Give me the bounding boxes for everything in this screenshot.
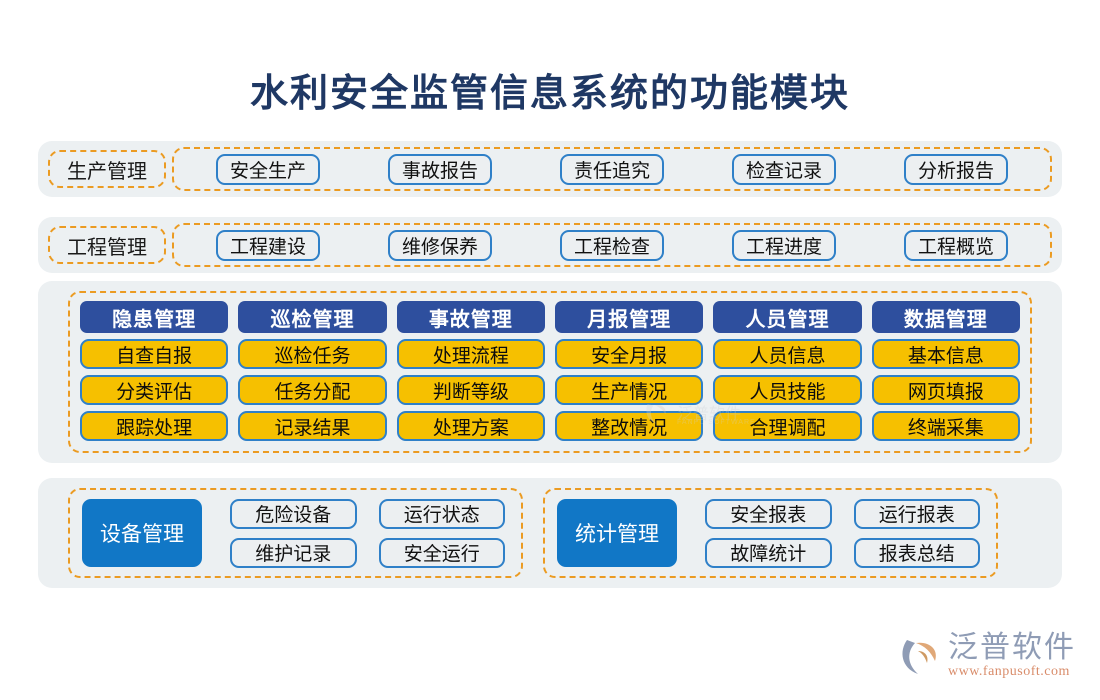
chip-item[interactable]: 检查记录 — [732, 154, 836, 185]
column-header[interactable]: 隐患管理 — [80, 301, 228, 333]
row-label-production: 生产管理 — [48, 150, 166, 188]
column-item[interactable]: 任务分配 — [238, 375, 386, 405]
matrix-column: 人员管理 人员信息 人员技能 合理调配 — [713, 301, 861, 441]
column-item[interactable]: 网页填报 — [872, 375, 1020, 405]
chip-item[interactable]: 安全报表 — [705, 499, 832, 529]
chip-item[interactable]: 责任追究 — [560, 154, 664, 185]
column-item[interactable]: 安全月报 — [555, 339, 703, 369]
column-header[interactable]: 巡检管理 — [238, 301, 386, 333]
column-item[interactable]: 人员信息 — [713, 339, 861, 369]
chip-item[interactable]: 工程建设 — [216, 230, 320, 261]
chip-item[interactable]: 故障统计 — [705, 538, 832, 568]
group-items-statistics: 安全报表 运行报表 故障统计 报表总结 — [677, 499, 996, 568]
chip-item[interactable]: 安全运行 — [379, 538, 506, 568]
column-item[interactable]: 记录结果 — [238, 411, 386, 441]
chip-item[interactable]: 工程检查 — [560, 230, 664, 261]
chip-item[interactable]: 维护记录 — [230, 538, 357, 568]
matrix-column: 月报管理 安全月报 生产情况 整改情况 — [555, 301, 703, 441]
column-item[interactable]: 整改情况 — [555, 411, 703, 441]
column-item[interactable]: 终端采集 — [872, 411, 1020, 441]
chip-item[interactable]: 工程概览 — [904, 230, 1008, 261]
row-items-engineering: 工程建设 维修保养 工程检查 工程进度 工程概览 — [172, 223, 1052, 267]
group-items-equipment: 危险设备 运行状态 维护记录 安全运行 — [202, 499, 521, 568]
group-statistics: 统计管理 安全报表 运行报表 故障统计 报表总结 — [543, 488, 998, 578]
fanpu-logo-icon — [898, 634, 942, 678]
column-item[interactable]: 判断等级 — [397, 375, 545, 405]
column-item[interactable]: 处理流程 — [397, 339, 545, 369]
chip-item[interactable]: 运行状态 — [379, 499, 506, 529]
column-item[interactable]: 巡检任务 — [238, 339, 386, 369]
logo-url: www.fanpusoft.com — [948, 664, 1076, 680]
column-item[interactable]: 分类评估 — [80, 375, 228, 405]
chip-item[interactable]: 分析报告 — [904, 154, 1008, 185]
column-item[interactable]: 跟踪处理 — [80, 411, 228, 441]
row-items-production: 安全生产 事故报告 责任追究 检查记录 分析报告 — [172, 147, 1052, 191]
matrix-column: 隐患管理 自查自报 分类评估 跟踪处理 — [80, 301, 228, 441]
group-badge-statistics[interactable]: 统计管理 — [557, 499, 677, 567]
chip-item[interactable]: 维修保养 — [388, 230, 492, 261]
column-item[interactable]: 生产情况 — [555, 375, 703, 405]
matrix-grid: 隐患管理 自查自报 分类评估 跟踪处理 巡检管理 巡检任务 任务分配 记录结果 … — [80, 301, 1020, 443]
matrix-dashed-frame: 隐患管理 自查自报 分类评估 跟踪处理 巡检管理 巡检任务 任务分配 记录结果 … — [68, 291, 1032, 453]
chip-item[interactable]: 工程进度 — [732, 230, 836, 261]
chip-item[interactable]: 报表总结 — [854, 538, 981, 568]
page-title: 水利安全监管信息系统的功能模块 — [0, 62, 1100, 117]
chip-item[interactable]: 危险设备 — [230, 499, 357, 529]
column-item[interactable]: 人员技能 — [713, 375, 861, 405]
footer-logo: 泛普软件 www.fanpusoft.com — [898, 630, 1076, 682]
chip-item[interactable]: 安全生产 — [216, 154, 320, 185]
chip-item[interactable]: 事故报告 — [388, 154, 492, 185]
chip-item[interactable]: 运行报表 — [854, 499, 981, 529]
column-item[interactable]: 合理调配 — [713, 411, 861, 441]
column-item[interactable]: 处理方案 — [397, 411, 545, 441]
group-badge-equipment[interactable]: 设备管理 — [82, 499, 202, 567]
matrix-column: 事故管理 处理流程 判断等级 处理方案 — [397, 301, 545, 441]
logo-name: 泛普软件 — [948, 632, 1076, 664]
column-header[interactable]: 人员管理 — [713, 301, 861, 333]
column-item[interactable]: 自查自报 — [80, 339, 228, 369]
diagram-canvas: 水利安全监管信息系统的功能模块 生产管理 安全生产 事故报告 责任追究 检查记录… — [0, 0, 1100, 700]
matrix-column: 巡检管理 巡检任务 任务分配 记录结果 — [238, 301, 386, 441]
logo-text-block: 泛普软件 www.fanpusoft.com — [948, 632, 1076, 680]
column-item[interactable]: 基本信息 — [872, 339, 1020, 369]
row-label-engineering: 工程管理 — [48, 226, 166, 264]
matrix-column: 数据管理 基本信息 网页填报 终端采集 — [872, 301, 1020, 441]
column-header[interactable]: 事故管理 — [397, 301, 545, 333]
group-equipment: 设备管理 危险设备 运行状态 维护记录 安全运行 — [68, 488, 523, 578]
row-panel-engineering: 工程管理 工程建设 维修保养 工程检查 工程进度 工程概览 — [38, 217, 1062, 273]
column-header[interactable]: 数据管理 — [872, 301, 1020, 333]
row-panel-production: 生产管理 安全生产 事故报告 责任追究 检查记录 分析报告 — [38, 141, 1062, 197]
column-header[interactable]: 月报管理 — [555, 301, 703, 333]
